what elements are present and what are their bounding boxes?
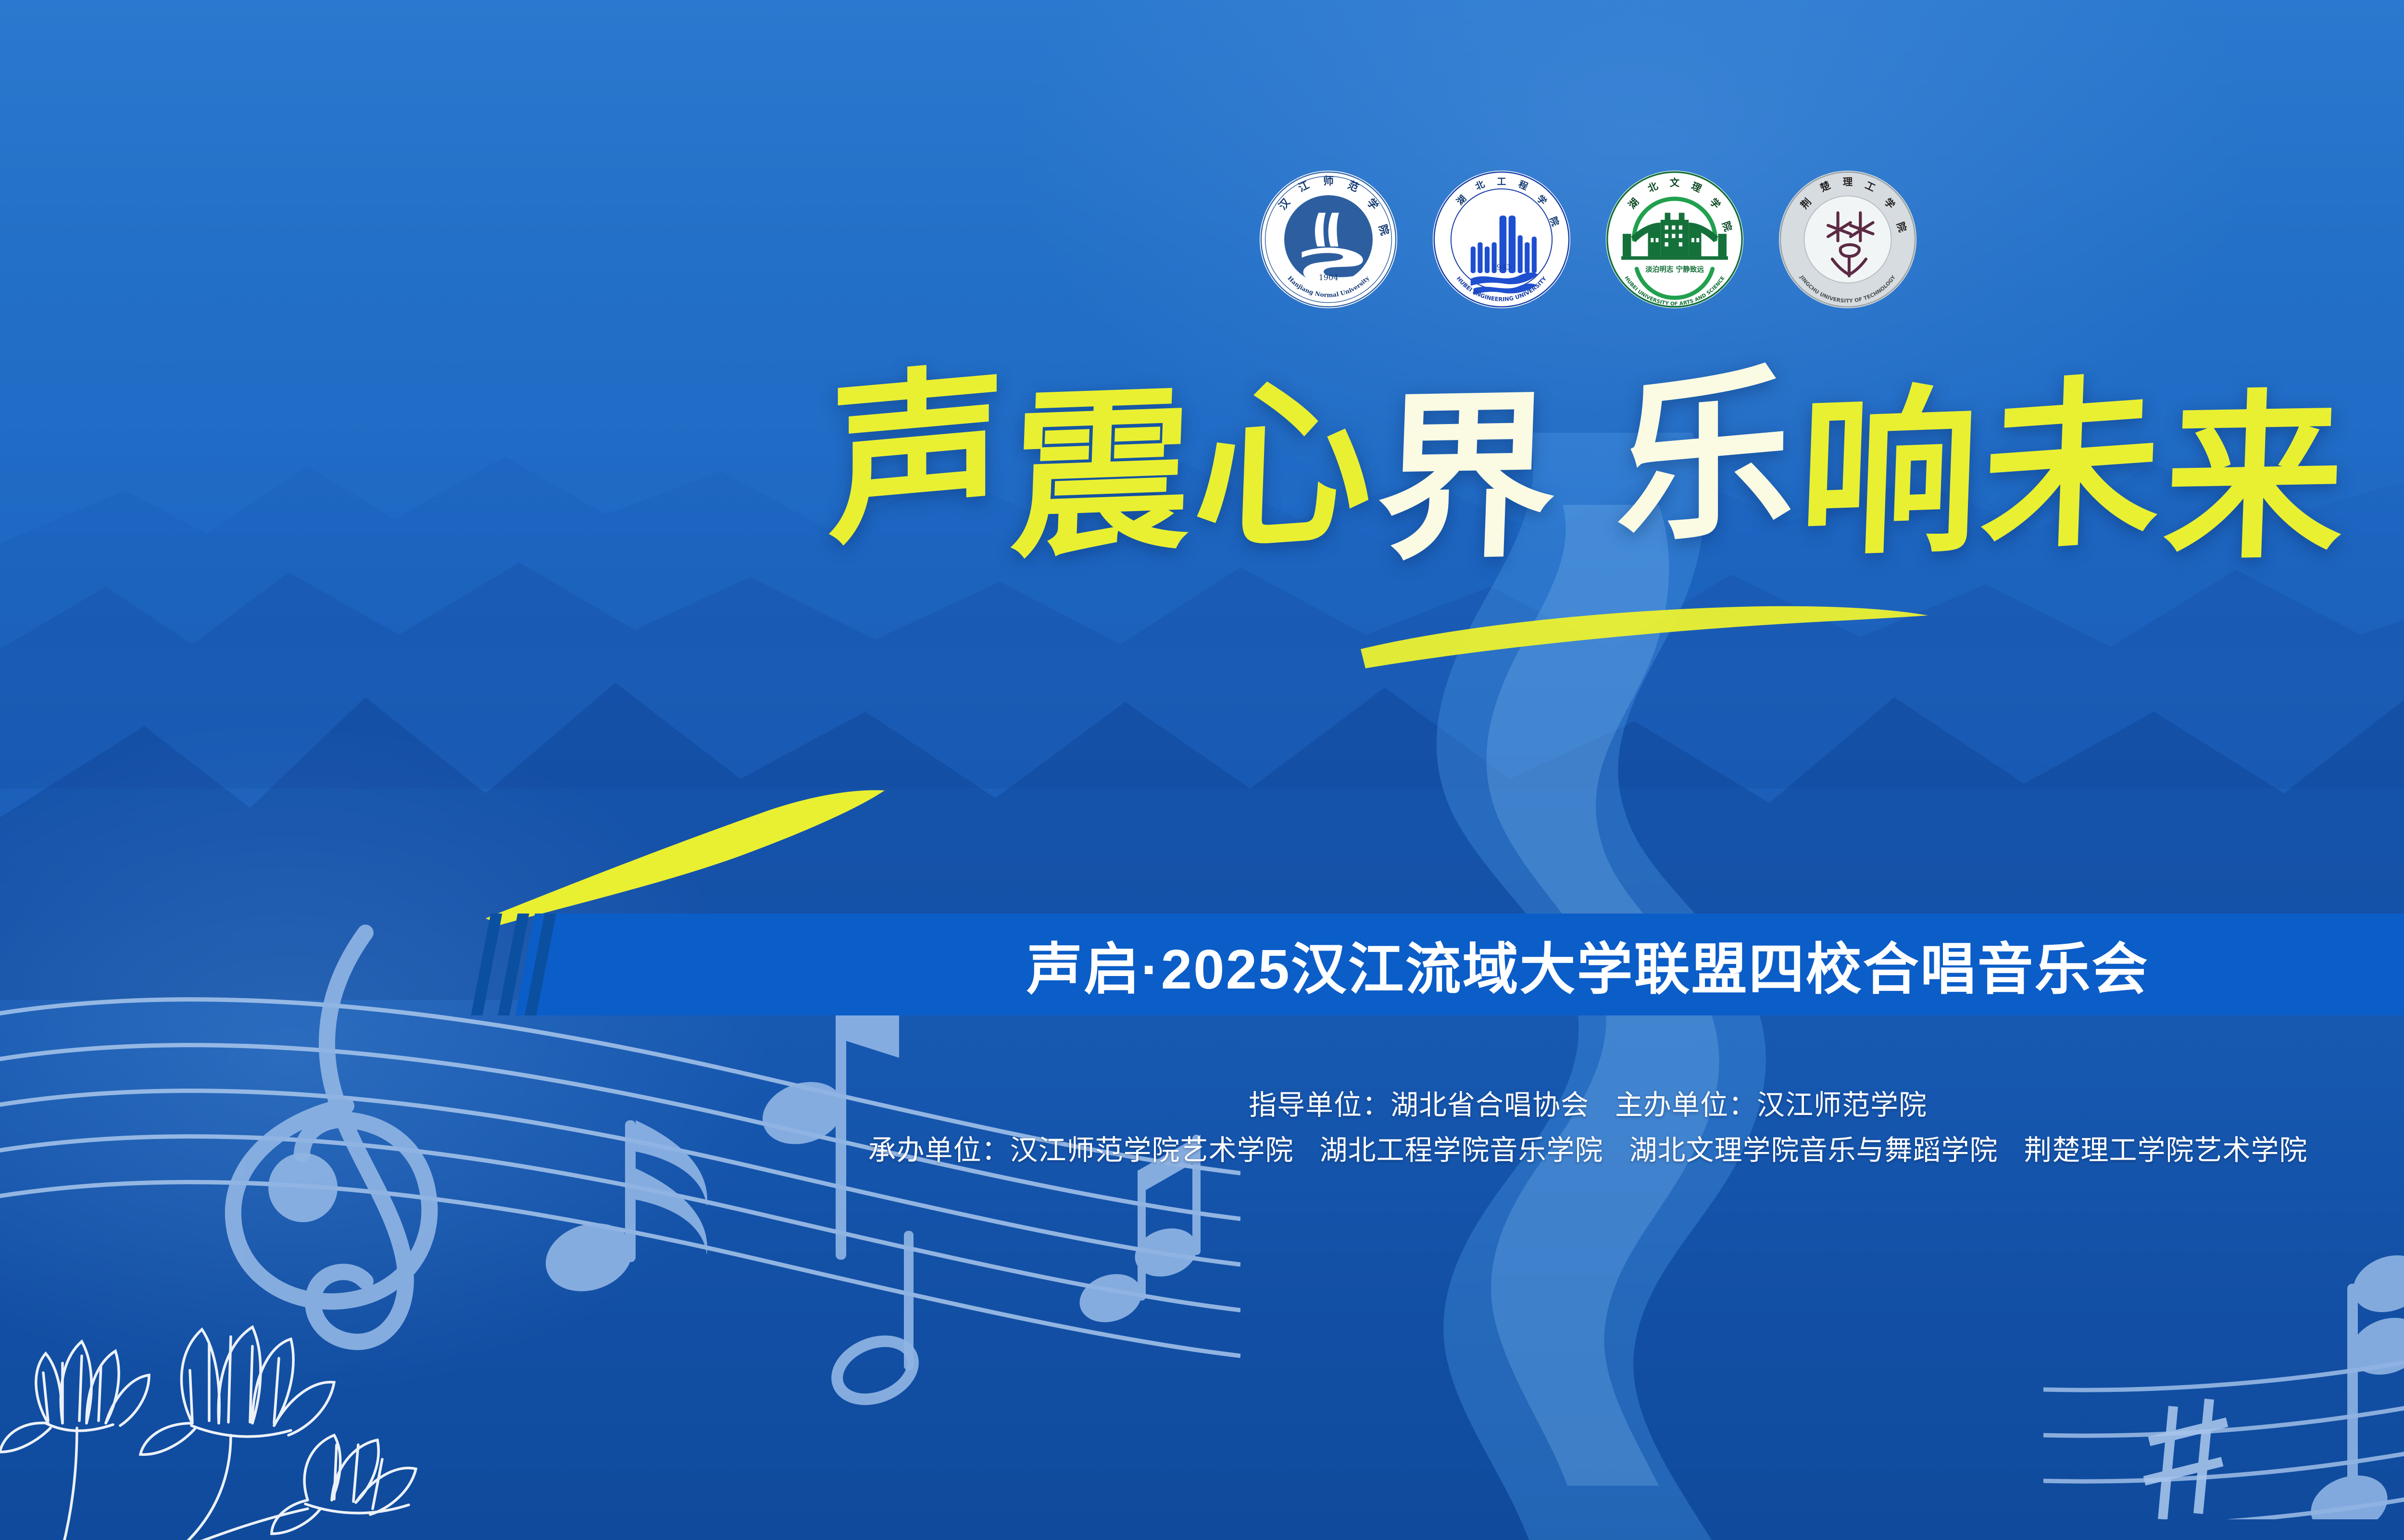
guidance-unit-label: 指导单位： [1249, 1089, 1390, 1121]
organizer-item-1: 汉江师范学院艺术学院 [1010, 1135, 1293, 1166]
credits-line-1: 指导单位：湖北省合唱协会主办单位：汉江师范学院 [0, 1083, 2404, 1128]
svg-text:文: 文 [1669, 177, 1679, 188]
host-unit-value: 汉江师范学院 [1757, 1089, 1927, 1121]
title-char-1: 声 [828, 359, 1010, 555]
subtitle-text: 声启·2025汉江流域大学联盟四校合唱音乐会 [1027, 924, 2149, 1005]
brush-stroke-lower-left [471, 789, 904, 933]
svg-text:1904: 1904 [1318, 273, 1338, 282]
university-logo-row: 师 范 学 院 江 汉 1904 Hanjiang Normal Univers… [0, 169, 2404, 310]
title-char-6: 响 [1796, 381, 1985, 567]
title-group-right: 乐响未来 [1616, 380, 2347, 559]
logo-jingchu-university-of-technology: 理 工 学 院 楚 荆 JINGCHU UNIVERSITY OF TECHNO… [1778, 169, 1918, 310]
host-unit-label: 主办单位： [1615, 1089, 1757, 1121]
organizer-label: 承办单位： [868, 1135, 1010, 1166]
title-char-3: 心 [1191, 369, 1379, 562]
title-char-5: 乐 [1615, 359, 1798, 555]
svg-text:工: 工 [1497, 176, 1506, 187]
organizer-item-2: 湖北工程学院音乐学院 [1319, 1135, 1603, 1166]
title-char-2: 震 [1008, 381, 1197, 567]
light-bloom-left [0, 721, 769, 1394]
title-group-left: 声震心界 [829, 380, 1560, 559]
title-char-4: 界 [1374, 387, 1563, 569]
stripe [471, 914, 502, 1015]
guidance-unit-value: 湖北省合唱协会 [1390, 1089, 1589, 1121]
credits-block: 指导单位：湖北省合唱协会主办单位：汉江师范学院 承办单位：汉江师范学院艺术学院湖… [0, 1083, 2404, 1173]
concert-poster: 师 范 学 院 江 汉 1904 Hanjiang Normal Univers… [0, 0, 2404, 1540]
main-title: 声震心界 乐响未来 [0, 380, 2404, 559]
brush-stroke-title-underline [1356, 591, 1933, 678]
credits-line-2: 承办单位：汉江师范学院艺术学院湖北工程学院音乐学院湖北文理学院音乐与舞蹈学院荆楚… [0, 1128, 2404, 1173]
organizer-item-4: 荆楚理工学院艺术学院 [2024, 1135, 2308, 1166]
logo-hubei-engineering-university: 1943 工 程 学 院 北 湖 HUBEI ENGINEERING UNIVE… [1431, 169, 1572, 310]
logo-hanjiang-normal-university: 师 范 学 院 江 汉 1904 Hanjiang Normal Univers… [1258, 169, 1399, 310]
svg-text:师: 师 [1323, 175, 1334, 188]
svg-text:淡泊明志 宁静致远: 淡泊明志 宁静致远 [1645, 265, 1704, 274]
title-char-7: 未 [1978, 369, 2167, 562]
svg-text:理: 理 [1842, 176, 1853, 188]
left-tulip-flowers [0, 1279, 543, 1540]
subtitle-band: 声启·2025汉江流域大学联盟四校合唱音乐会 [515, 914, 2404, 1015]
logo-hubei-university-of-arts-and-science: 淡泊明志 宁静致远 文 理 学 院 北 湖 HUBEI UNIVERSITY O… [1604, 169, 1745, 310]
title-char-8: 来 [2161, 387, 2350, 569]
svg-text:1943: 1943 [1491, 263, 1511, 272]
organizer-item-3: 湖北文理学院音乐与舞蹈学院 [1629, 1135, 1998, 1166]
